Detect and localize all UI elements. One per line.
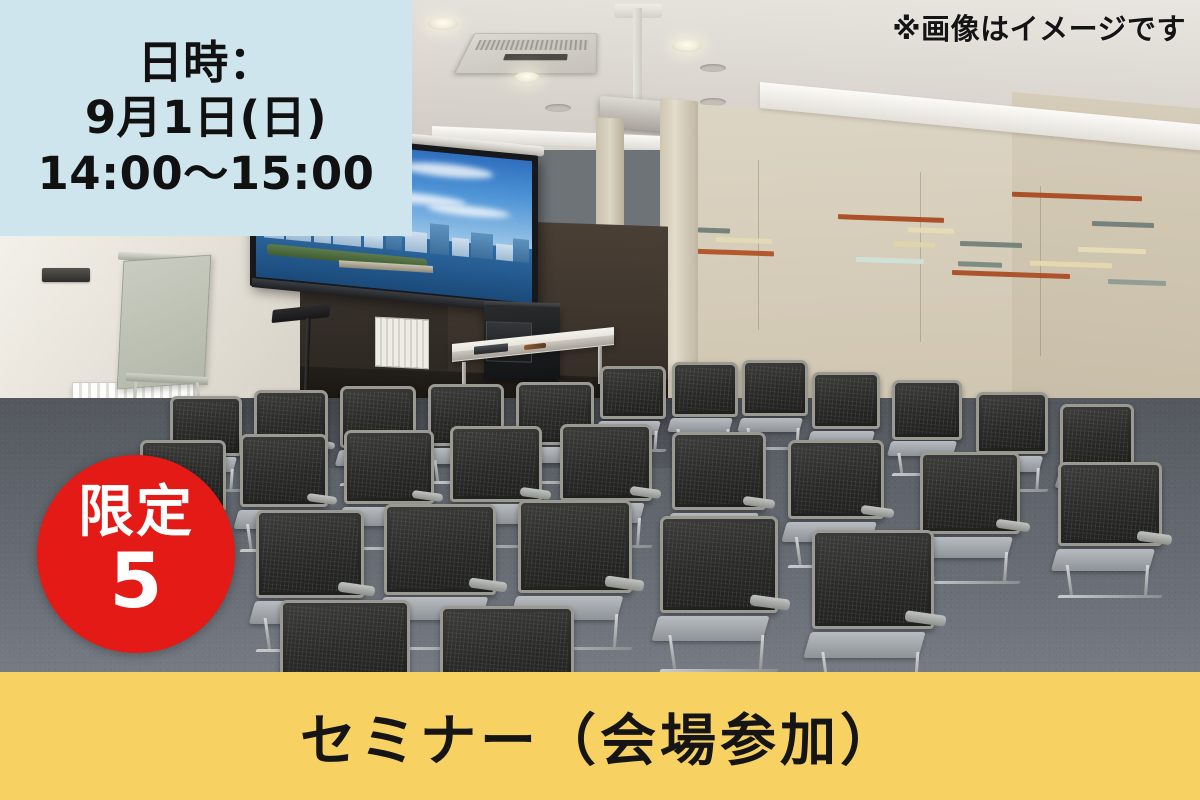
- chair-mesh: [678, 438, 760, 504]
- downlight-icon: [428, 18, 458, 30]
- chair-mesh: [350, 436, 428, 498]
- chair-mesh: [606, 372, 660, 413]
- chair-mesh: [678, 368, 732, 411]
- chair-back: [280, 600, 410, 672]
- seminar-title: セミナー（会場参加）: [300, 696, 900, 777]
- limit-badge-number: 5: [110, 543, 163, 619]
- chair-legs: [819, 652, 926, 672]
- chair-mesh: [246, 440, 322, 501]
- chair: [812, 530, 934, 672]
- chair: [920, 452, 1020, 584]
- chair-mesh: [286, 606, 404, 672]
- chair-mesh: [456, 432, 536, 496]
- datetime-date: 9月1日(日): [85, 91, 327, 144]
- chair-mesh: [524, 506, 626, 587]
- chair-mesh: [446, 612, 568, 672]
- chair-mesh: [1064, 468, 1156, 540]
- chair-back: [672, 362, 738, 417]
- wall-seam: [920, 172, 921, 342]
- chair-skid: [1057, 595, 1162, 598]
- chair-mesh: [818, 378, 874, 423]
- chair-mesh: [898, 386, 956, 434]
- building: [430, 224, 449, 256]
- chair-back: [1060, 404, 1134, 468]
- chair-back: [812, 372, 880, 429]
- cable: [556, 364, 596, 384]
- chair: [660, 516, 778, 672]
- seminar-promo-banner: 日時： 9月1日(日) 14:00〜15:00 ※画像はイメージです 限定 5 …: [0, 0, 1200, 800]
- chair-skid: [919, 581, 1020, 584]
- bottom-banner: セミナー（会場参加）: [0, 672, 1200, 800]
- chair-legs: [667, 635, 771, 672]
- chair-legs: [1064, 565, 1156, 598]
- ceiling-vent-icon: [545, 104, 571, 112]
- building: [471, 233, 493, 260]
- flipchart-board-icon: [117, 255, 212, 390]
- chair: [280, 600, 410, 672]
- projector-mount-rod: [633, 8, 642, 104]
- wall-seam: [758, 160, 759, 330]
- building: [452, 238, 469, 258]
- wall-art-strip: [698, 227, 730, 233]
- chair-mesh: [748, 366, 802, 410]
- building: [496, 244, 513, 262]
- downlight-icon: [672, 40, 702, 52]
- chair-back: [892, 380, 962, 440]
- chair-mesh: [926, 458, 1014, 528]
- radiator-icon: [375, 317, 429, 370]
- chair-mesh: [262, 516, 358, 592]
- chair-back: [976, 392, 1048, 454]
- downlight-icon: [514, 72, 540, 83]
- chair: [1058, 462, 1162, 598]
- chair: [440, 606, 574, 672]
- chair-mesh: [1066, 410, 1128, 462]
- limit-badge: 限定 5: [37, 455, 235, 653]
- chair-back: [440, 606, 574, 672]
- chair-legs: [926, 552, 1014, 584]
- datetime-label: 日時：: [138, 36, 275, 89]
- building: [513, 238, 530, 263]
- wall-seam: [1040, 186, 1041, 356]
- chair-mesh: [982, 398, 1042, 448]
- image-disclaimer-text: ※画像はイメージです: [892, 6, 1186, 48]
- chair-mesh: [390, 510, 490, 589]
- datetime-overlay: 日時： 9月1日(日) 14:00〜15:00: [0, 0, 412, 236]
- ac-grill: [475, 40, 589, 50]
- ceiling-air-conditioner-icon: [454, 33, 597, 73]
- chair-mesh: [794, 446, 878, 513]
- limit-badge-label: 限定: [78, 485, 194, 541]
- ceiling-vent-icon: [700, 64, 726, 72]
- chair-back: [742, 360, 808, 416]
- ac-vent: [503, 54, 568, 60]
- datetime-time: 14:00〜15:00: [38, 147, 375, 200]
- chair-mesh: [566, 430, 646, 495]
- chair-back: [600, 366, 666, 419]
- wall-outlet-icon: [42, 268, 90, 282]
